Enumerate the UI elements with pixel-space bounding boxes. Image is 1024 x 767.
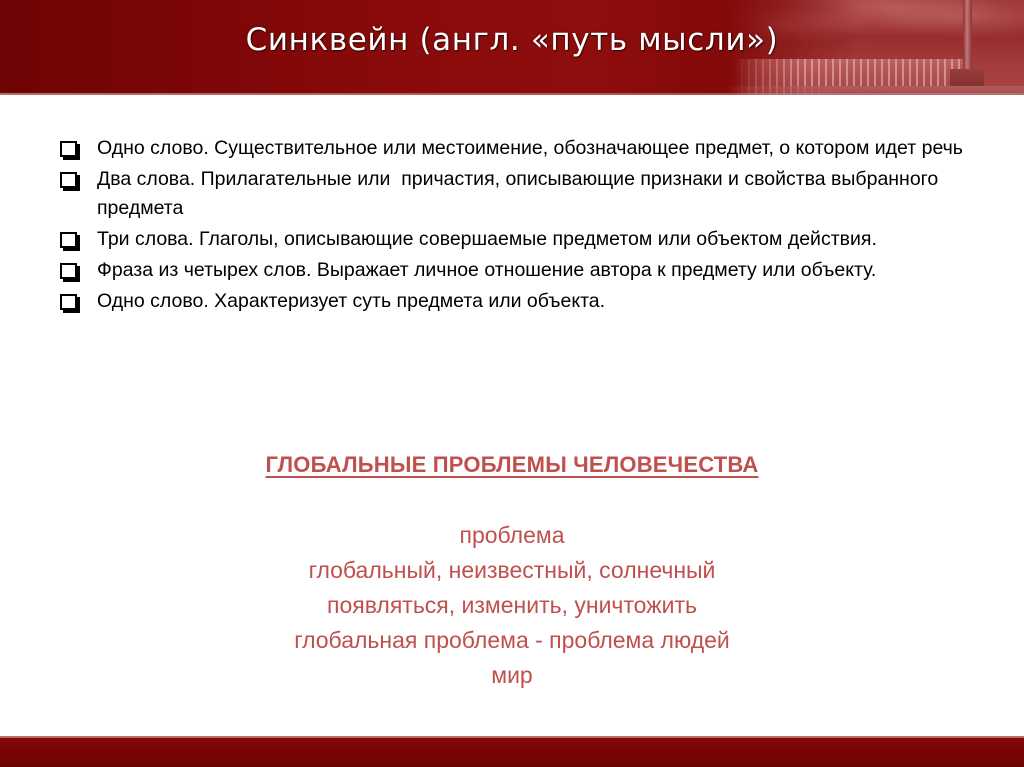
square-bullet-icon <box>60 232 77 248</box>
list-item-label: Одно слово. Характеризует суть предмета … <box>97 287 968 316</box>
cinquain-line-5: мир <box>0 658 1024 693</box>
slide-title: Синквейн (англ. «путь мысли») <box>0 22 1024 58</box>
list-item: Фраза из четырех слов. Выражает личное о… <box>58 256 968 285</box>
list-item-label: Два слова. Прилагательные или причастия,… <box>97 165 968 223</box>
footer-topline <box>0 736 1024 738</box>
list-item: Два слова. Прилагательные или причастия,… <box>58 165 968 223</box>
list-item-label: Одно слово. Существительное или местоиме… <box>97 134 968 163</box>
list-item-label: Три слова. Глаголы, описывающие совершае… <box>97 225 968 254</box>
cinquain-rules-list: Одно слово. Существительное или местоиме… <box>58 134 968 318</box>
cinquain-example: проблема глобальный, неизвестный, солнеч… <box>0 518 1024 693</box>
slide: Синквейн (англ. «путь мысли») Одно слово… <box>0 0 1024 767</box>
square-bullet-icon <box>60 141 77 157</box>
square-bullet-icon <box>60 294 77 310</box>
square-bullet-icon <box>60 172 77 188</box>
cinquain-line-3: появляться, изменить, уничтожить <box>0 588 1024 623</box>
list-item-label: Фраза из четырех слов. Выражает личное о… <box>97 256 968 285</box>
example-heading: ГЛОБАЛЬНЫЕ ПРОБЛЕМЫ ЧЕЛОВЕЧЕСТВА <box>0 452 1024 478</box>
cinquain-line-4: глобальная проблема - проблема людей <box>0 623 1024 658</box>
header-underline <box>0 93 1024 95</box>
slide-header-band: Синквейн (англ. «путь мысли») <box>0 0 1024 95</box>
cinquain-line-2: глобальный, неизвестный, солнечный <box>0 553 1024 588</box>
list-item: Одно слово. Существительное или местоиме… <box>58 134 968 163</box>
cinquain-line-1: проблема <box>0 518 1024 553</box>
square-bullet-icon <box>60 263 77 279</box>
slide-footer-band <box>0 736 1024 767</box>
list-item: Три слова. Глаголы, описывающие совершае… <box>58 225 968 254</box>
list-item: Одно слово. Характеризует суть предмета … <box>58 287 968 316</box>
